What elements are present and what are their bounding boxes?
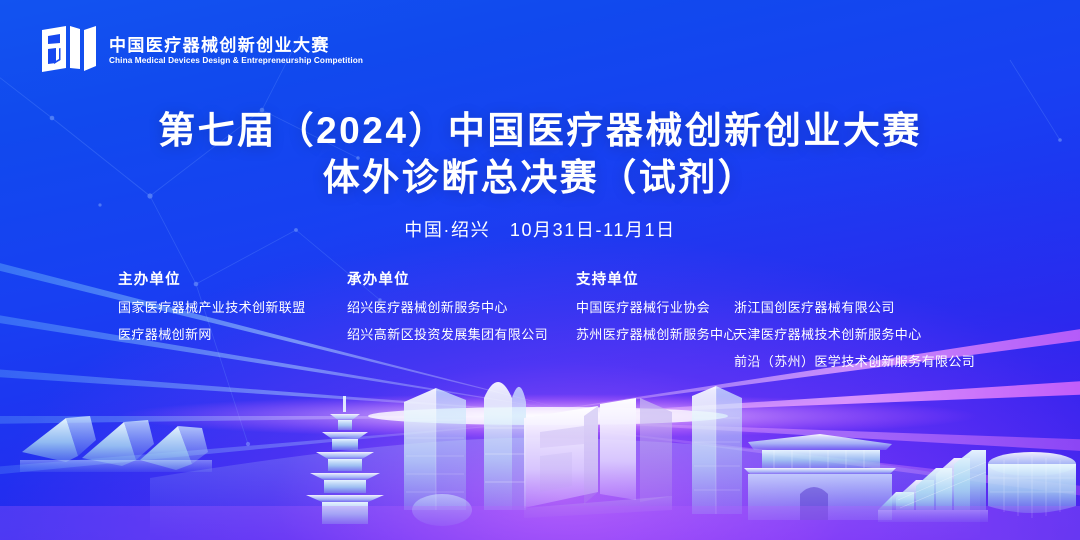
landmark-twin-skyscrapers bbox=[404, 382, 526, 526]
organizer-columns: 主办单位 国家医疗器械产业技术创新联盟 医疗器械创新网 承办单位 绍兴医疗器械创… bbox=[118, 268, 1018, 378]
city-skyline-illustration bbox=[0, 360, 1080, 540]
organizer-item: 中国医疗器械行业协会 bbox=[576, 301, 737, 314]
organizer-header-host: 主办单位 bbox=[118, 268, 306, 289]
landmark-sail-pavilion bbox=[20, 416, 212, 472]
organizer-item: 天津医疗器械技术创新服务中心 bbox=[734, 328, 975, 341]
organizer-item: 绍兴医疗器械创新服务中心 bbox=[347, 301, 548, 314]
headline-line-1: 第七届（2024）中国医疗器械创新创业大赛 bbox=[0, 108, 1080, 155]
organizer-column-undertaker: 承办单位 绍兴医疗器械创新服务中心 绍兴高新区投资发展集团有限公司 bbox=[347, 268, 548, 355]
organizer-column-supporter-overflow: 支持单位 浙江国创医疗器械有限公司 天津医疗器械技术创新服务中心 前沿（苏州）医… bbox=[734, 268, 975, 382]
headline-line-2: 体外诊断总决赛（试剂） bbox=[0, 155, 1080, 202]
organizer-item: 医疗器械创新网 bbox=[118, 328, 306, 341]
banner-canvas: 中国医疗器械创新创业大赛 China Medical Devices Desig… bbox=[0, 0, 1080, 540]
event-location-and-dates: 中国·绍兴 10月31日-11月1日 bbox=[0, 216, 1080, 242]
landmark-glass-tower bbox=[692, 386, 742, 514]
logo-title-cn: 中国医疗器械创新创业大赛 bbox=[109, 37, 371, 54]
organizer-header-supporter: 支持单位 bbox=[576, 268, 737, 289]
organizer-column-host: 主办单位 国家医疗器械产业技术创新联盟 医疗器械创新网 bbox=[118, 268, 306, 355]
organizer-column-supporter: 支持单位 中国医疗器械行业协会 苏州医疗器械创新服务中心 bbox=[576, 268, 737, 355]
page-title: 第七届（2024）中国医疗器械创新创业大赛 体外诊断总决赛（试剂） bbox=[0, 108, 1080, 201]
organizer-item: 绍兴高新区投资发展集团有限公司 bbox=[347, 328, 548, 341]
organizer-item: 浙江国创医疗器械有限公司 bbox=[734, 301, 975, 314]
organizer-header-undertaker: 承办单位 bbox=[347, 268, 548, 289]
brand-logo-lockup[interactable]: 中国医疗器械创新创业大赛 China Medical Devices Desig… bbox=[40, 24, 371, 74]
organizer-item: 国家医疗器械产业技术创新联盟 bbox=[118, 301, 306, 314]
logo-title-en: China Medical Devices Design & Entrepren… bbox=[109, 56, 363, 65]
competition-logo-icon bbox=[40, 24, 98, 74]
organizer-item: 苏州医疗器械创新服务中心 bbox=[576, 328, 737, 341]
organizer-item: 前沿（苏州）医学技术创新服务有限公司 bbox=[734, 355, 975, 368]
